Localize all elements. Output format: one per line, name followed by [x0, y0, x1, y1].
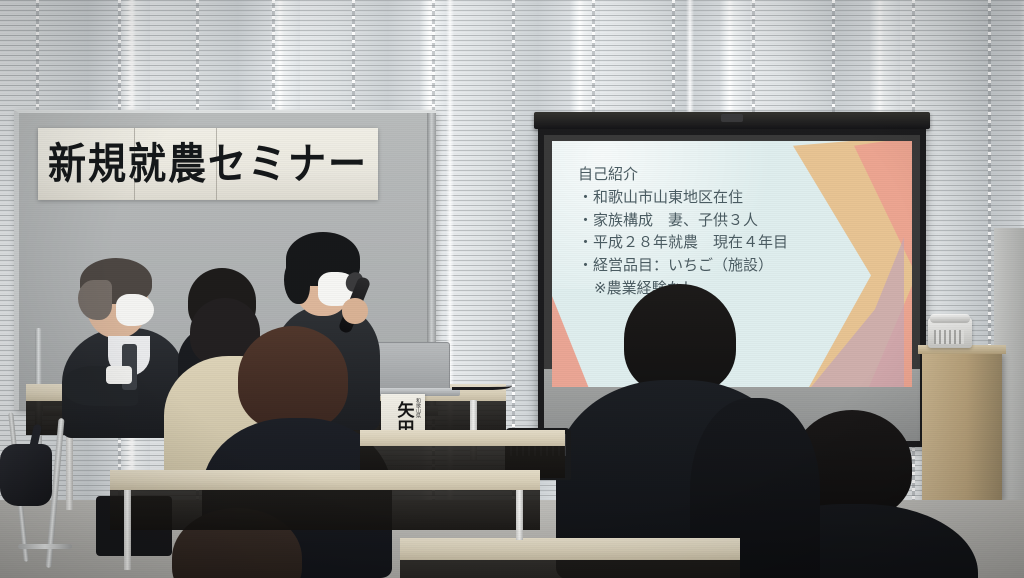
phone-handset[interactable]: [930, 314, 970, 323]
phone-keypad[interactable]: [934, 330, 964, 344]
table-leg: [516, 490, 523, 540]
table-leg: [124, 490, 131, 570]
slide-bullet: ・経営品目：いちご（施設）: [578, 254, 802, 277]
slide-bullet: ・平成２８年就農 現在４年目: [578, 231, 802, 254]
head-back-auburn: [238, 326, 348, 430]
hair-gray: [78, 280, 112, 320]
face-mask: [116, 294, 154, 326]
seminar-banner: 新規就農セミナー: [38, 128, 378, 200]
slide-text-block: 自己紹介 ・和歌山市山東地区在住 ・家族構成 妻、子供３人 ・平成２８年就農 現…: [578, 163, 802, 300]
cart-crossbar: [18, 544, 72, 549]
slide-bullet: ・家族構成 妻、子供３人: [578, 209, 802, 232]
slide-bullet: ・和歌山市山東地区在住: [578, 186, 802, 209]
presenter-hand: [342, 298, 368, 324]
audience-table: [110, 470, 540, 490]
shirt-cuff: [106, 366, 132, 384]
slide-heading: 自己紹介: [578, 163, 802, 186]
screen-handle[interactable]: [721, 114, 743, 122]
front-table: [400, 538, 740, 560]
head-back: [624, 284, 736, 394]
desk-telephone[interactable]: [928, 318, 972, 348]
seminar-room-photo: 新規就農セミナー 自己紹介 ・和歌山市山東地区在住 ・家族構成 妻、子供３人 ・…: [0, 0, 1024, 578]
mid-table: [360, 430, 565, 446]
backpack: [0, 444, 52, 506]
nameplate-subtext: 和歌山県: [415, 398, 422, 418]
power-cable: [452, 380, 512, 390]
screen-top-bar: [534, 112, 930, 129]
banner-title: 新規就農セミナー: [48, 143, 368, 186]
